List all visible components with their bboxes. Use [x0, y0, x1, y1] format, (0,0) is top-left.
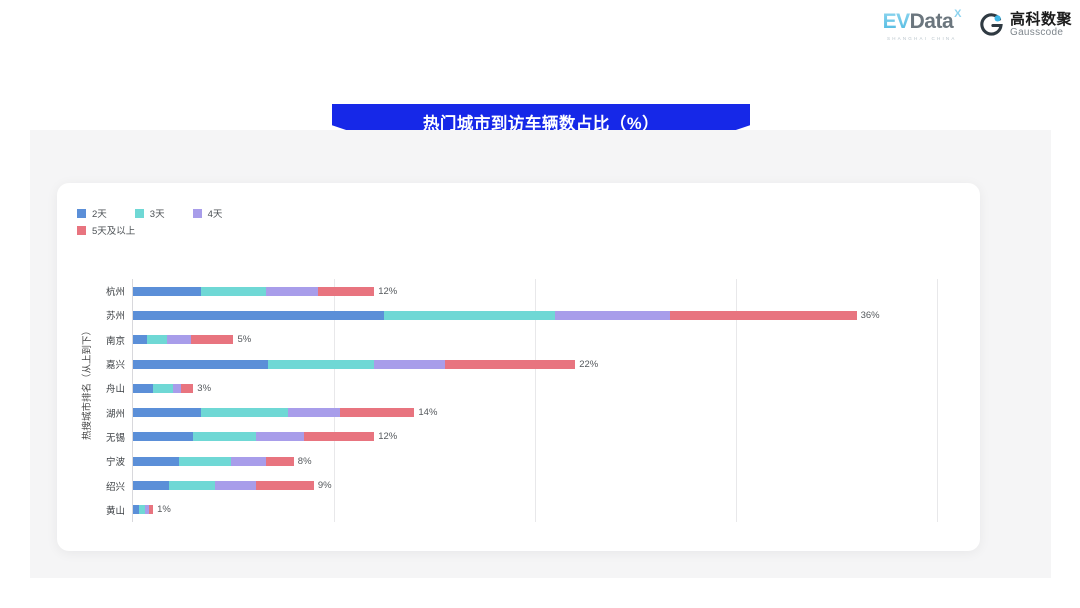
- bar-segment-2天[interactable]: [133, 335, 147, 344]
- bar-segment-2天[interactable]: [133, 481, 169, 490]
- bar-segment-5天及以上[interactable]: [149, 505, 153, 514]
- bar-segment-5天及以上[interactable]: [670, 311, 857, 320]
- chart-bar-row[interactable]: 湖州14%: [57, 400, 980, 424]
- evdata-x-superscript: X: [954, 8, 961, 20]
- bar-segment-3天[interactable]: [169, 481, 215, 490]
- bar-segment-5天及以上[interactable]: [445, 360, 576, 369]
- evdata-wordmark: EVDataX: [883, 10, 961, 34]
- bar-segment-4天[interactable]: [288, 408, 340, 417]
- chart-bar-row[interactable]: 黄山1%: [57, 498, 980, 522]
- bar-segment-4天[interactable]: [231, 457, 265, 466]
- gausscode-text: 高科数聚 Gausscode: [1010, 12, 1072, 38]
- y-axis-tick-label: 黄山: [57, 503, 125, 517]
- bar-segment-2天[interactable]: [133, 432, 193, 441]
- brand-logos: EVDataX SHANGHAI CHINA 高科数聚 Gausscode: [883, 10, 1072, 41]
- stacked-bar[interactable]: [133, 505, 153, 514]
- chart-bar-row[interactable]: 杭州12%: [57, 279, 980, 303]
- bar-segment-3天[interactable]: [201, 408, 287, 417]
- bar-segment-3天[interactable]: [384, 311, 555, 320]
- bar-value-label: 9%: [318, 481, 332, 490]
- bar-value-label: 12%: [378, 287, 397, 296]
- y-axis-tick-label: 宁波: [57, 454, 125, 468]
- bar-segment-4天[interactable]: [215, 481, 255, 490]
- chart-bar-row[interactable]: 苏州36%: [57, 303, 980, 327]
- gausscode-logo: 高科数聚 Gausscode: [979, 12, 1072, 38]
- bar-segment-5天及以上[interactable]: [318, 287, 374, 296]
- bar-segment-2天[interactable]: [133, 384, 153, 393]
- y-axis-tick-label: 湖州: [57, 406, 125, 420]
- bar-segment-3天[interactable]: [193, 432, 255, 441]
- bar-value-label: 14%: [418, 408, 437, 417]
- bar-segment-5天及以上[interactable]: [340, 408, 414, 417]
- y-axis-tick-label: 无锡: [57, 430, 125, 444]
- bar-value-label: 12%: [378, 432, 397, 441]
- chart-bar-row[interactable]: 宁波8%: [57, 449, 980, 473]
- bar-segment-5天及以上[interactable]: [304, 432, 374, 441]
- stacked-bar[interactable]: [133, 335, 234, 344]
- bar-segment-3天[interactable]: [201, 287, 265, 296]
- stacked-bar[interactable]: [133, 360, 575, 369]
- chart-bar-rows: 杭州12%苏州36%南京5%嘉兴22%舟山3%湖州14%无锡12%宁波8%绍兴9…: [57, 279, 980, 522]
- bar-segment-3天[interactable]: [147, 335, 167, 344]
- gausscode-cn-name: 高科数聚: [1010, 12, 1072, 28]
- stacked-bar[interactable]: [133, 384, 193, 393]
- stacked-bar[interactable]: [133, 287, 374, 296]
- stacked-bar[interactable]: [133, 311, 857, 320]
- bar-segment-2天[interactable]: [133, 287, 201, 296]
- y-axis-tick-label: 绍兴: [57, 479, 125, 493]
- stacked-bar[interactable]: [133, 457, 294, 466]
- y-axis-tick-label: 嘉兴: [57, 357, 125, 371]
- bar-segment-2天[interactable]: [133, 311, 384, 320]
- chart-bar-row[interactable]: 嘉兴22%: [57, 352, 980, 376]
- evdata-data-text: Data: [910, 10, 954, 34]
- bar-segment-4天[interactable]: [256, 432, 304, 441]
- bar-segment-4天[interactable]: [167, 335, 191, 344]
- bar-segment-3天[interactable]: [153, 384, 173, 393]
- bar-value-label: 22%: [579, 360, 598, 369]
- evdata-subtitle: SHANGHAI CHINA: [887, 36, 957, 41]
- chart-bar-row[interactable]: 舟山3%: [57, 376, 980, 400]
- y-axis-tick-label: 苏州: [57, 308, 125, 322]
- y-axis-tick-label: 南京: [57, 333, 125, 347]
- bar-value-label: 5%: [238, 335, 252, 344]
- stacked-bar[interactable]: [133, 408, 414, 417]
- bar-value-label: 8%: [298, 457, 312, 466]
- evdata-logo: EVDataX SHANGHAI CHINA: [883, 10, 961, 41]
- chart-bar-row[interactable]: 南京5%: [57, 328, 980, 352]
- bar-segment-4天[interactable]: [555, 311, 670, 320]
- bar-segment-3天[interactable]: [268, 360, 375, 369]
- bar-segment-4天[interactable]: [374, 360, 444, 369]
- bar-segment-5天及以上[interactable]: [256, 481, 314, 490]
- bar-value-label: 36%: [861, 311, 880, 320]
- bar-segment-5天及以上[interactable]: [266, 457, 294, 466]
- bar-segment-2天[interactable]: [133, 457, 179, 466]
- bar-segment-4天[interactable]: [173, 384, 181, 393]
- slide-page: EVDataX SHANGHAI CHINA 高科数聚 Gausscode 热门…: [0, 0, 1080, 608]
- bar-value-label: 3%: [197, 384, 211, 393]
- evdata-ev-text: EV: [883, 10, 910, 34]
- chart-plot-area: 热搜城市排名（从上到下） 杭州12%苏州36%南京5%嘉兴22%舟山3%湖州14…: [57, 183, 980, 551]
- chart-card: 2天 3天 4天 5天及以上 热搜城市排名（: [57, 183, 980, 551]
- stacked-bar[interactable]: [133, 432, 374, 441]
- bar-segment-2天[interactable]: [133, 360, 268, 369]
- bar-segment-5天及以上[interactable]: [181, 384, 193, 393]
- bar-value-label: 1%: [157, 505, 171, 514]
- gausscode-mark-icon: [979, 13, 1004, 38]
- y-axis-tick-label: 杭州: [57, 284, 125, 298]
- bar-segment-3天[interactable]: [179, 457, 231, 466]
- y-axis-tick-label: 舟山: [57, 381, 125, 395]
- bar-segment-4天[interactable]: [266, 287, 318, 296]
- chart-bar-row[interactable]: 绍兴9%: [57, 473, 980, 497]
- bar-segment-5天及以上[interactable]: [191, 335, 233, 344]
- stacked-bar[interactable]: [133, 481, 314, 490]
- gausscode-en-name: Gausscode: [1010, 28, 1072, 39]
- bar-segment-2天[interactable]: [133, 408, 201, 417]
- chart-bar-row[interactable]: 无锡12%: [57, 425, 980, 449]
